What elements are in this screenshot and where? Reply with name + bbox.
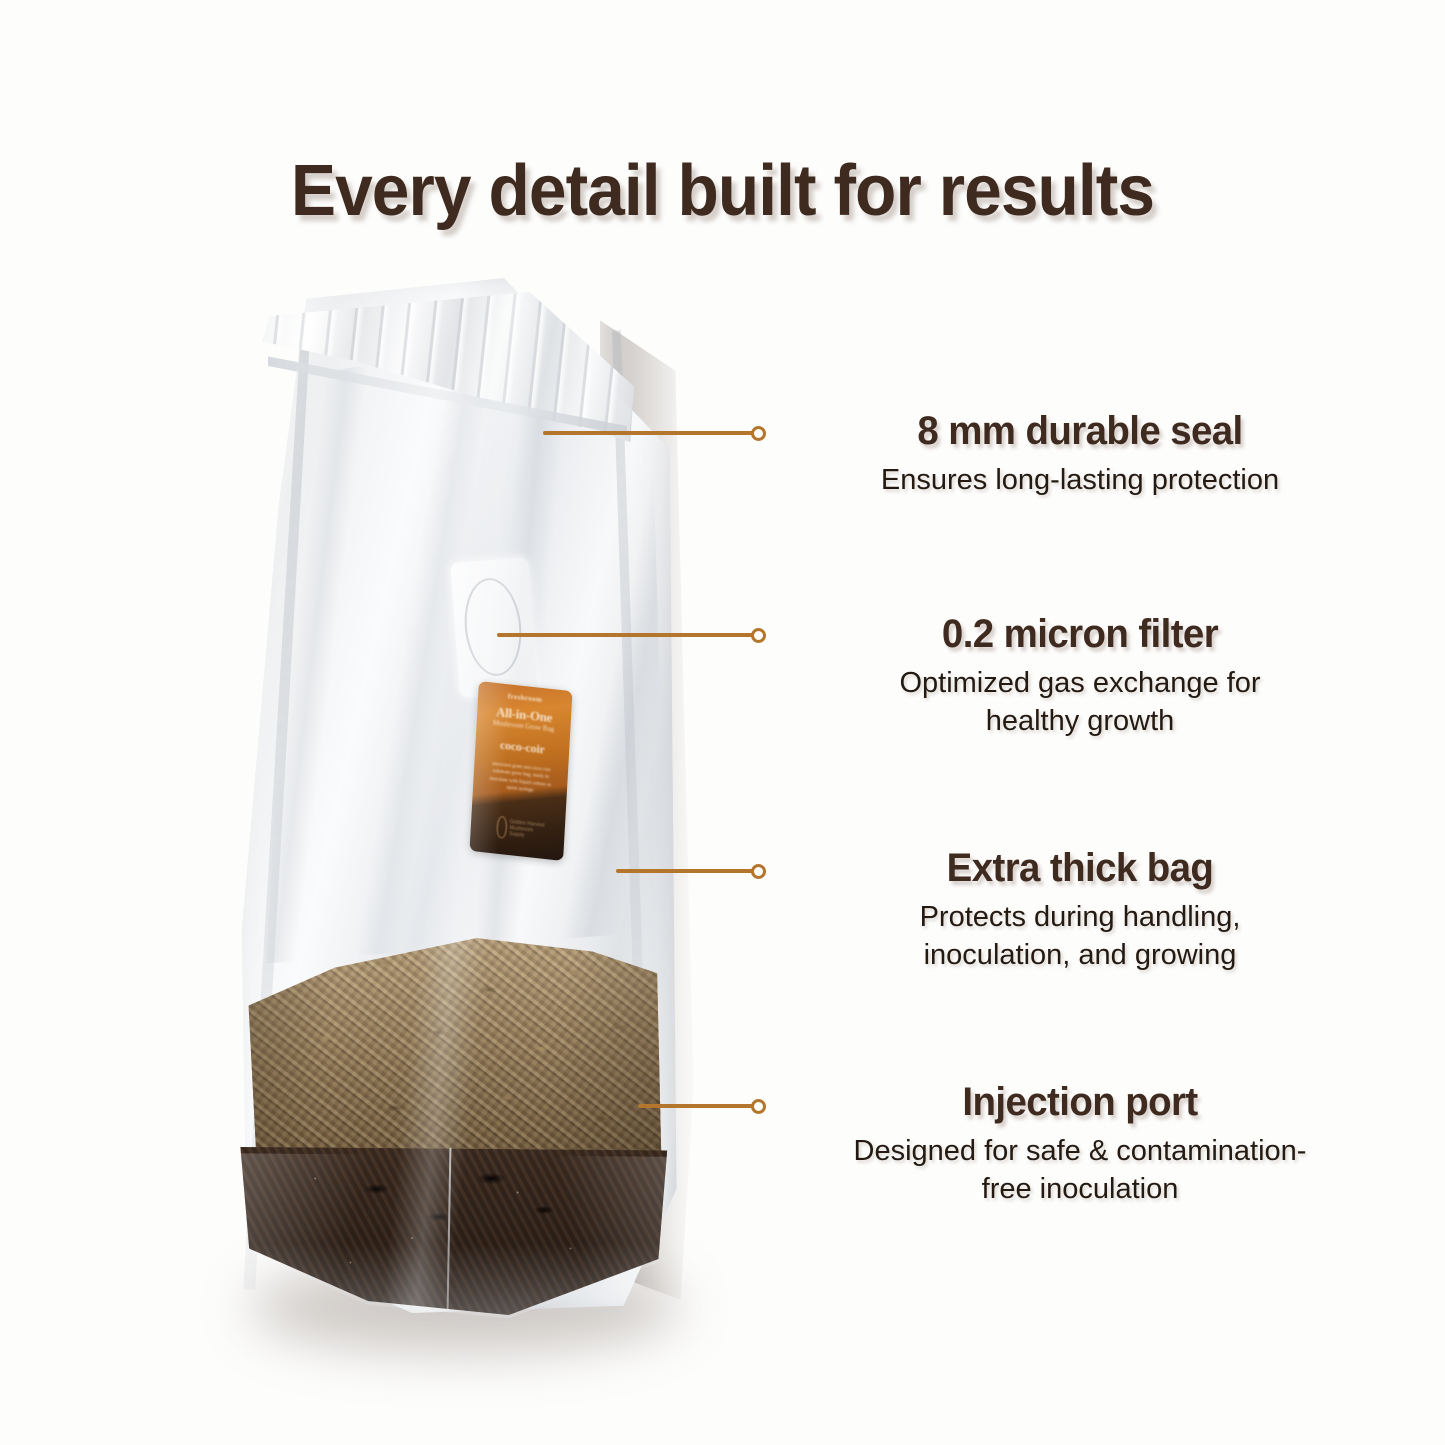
callout-extra-thick-bag: Extra thick bag Protects during handling… (800, 846, 1360, 974)
product-label: freshroom All-in-One Mushroom Grow Bag c… (469, 681, 572, 861)
callout-title-micron-filter: 0.2 micron filter (811, 612, 1349, 657)
callout-title-durable-seal: 8 mm durable seal (811, 409, 1349, 454)
leader-dot-thick-bag (751, 864, 766, 879)
leader-dot-filter (751, 628, 766, 643)
callout-desc-durable-seal: Ensures long-lasting protection (865, 462, 1295, 500)
label-variant: coco-coir (482, 736, 562, 758)
callout-desc-extra-thick-bag: Protects during handling, inoculation, a… (868, 899, 1293, 974)
label-logo-text: Golden Harvest Mushroom Supply (509, 819, 549, 841)
mushroom-logo-icon (496, 816, 507, 839)
leader-line-filter (497, 633, 756, 637)
label-body: Sterilized grain and coco coir substrate… (480, 760, 561, 799)
callout-injection-port: Injection port Designed for safe & conta… (800, 1080, 1360, 1208)
callout-durable-seal: 8 mm durable seal Ensures long-lasting p… (800, 409, 1360, 500)
leader-line-thick-bag (616, 869, 756, 873)
label-logo: Golden Harvest Mushroom Supply (496, 810, 550, 850)
leader-line-seal (543, 431, 756, 435)
leader-dot-seal (751, 426, 766, 441)
callout-micron-filter: 0.2 micron filter Optimized gas exchange… (800, 612, 1360, 740)
callout-desc-injection-port: Designed for safe & contamination-free i… (835, 1133, 1325, 1208)
callout-title-injection-port: Injection port (811, 1080, 1349, 1125)
leader-dot-injection-port (751, 1099, 766, 1114)
callout-title-extra-thick-bag: Extra thick bag (811, 846, 1349, 891)
callout-desc-micron-filter: Optimized gas exchange for healthy growt… (870, 665, 1290, 740)
leader-line-injection-port (638, 1104, 756, 1108)
